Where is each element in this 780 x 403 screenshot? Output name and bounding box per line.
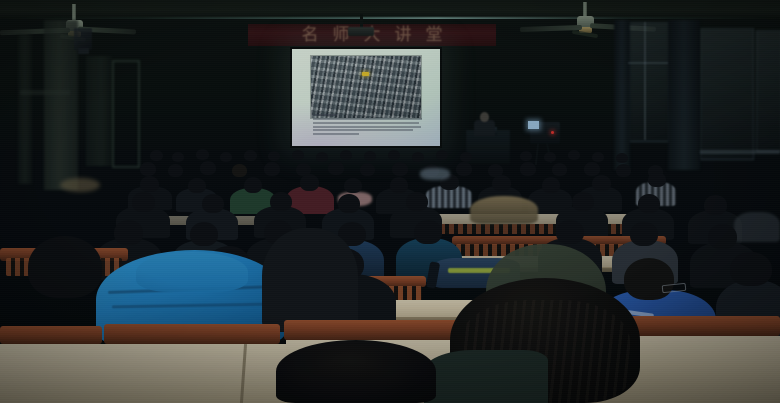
right-window-mullion xyxy=(644,22,646,140)
slide-caption-line xyxy=(313,122,419,124)
foreground-dark-figure xyxy=(262,228,358,332)
head xyxy=(202,194,224,213)
head xyxy=(196,149,209,160)
head xyxy=(544,152,556,162)
bench-tier-4-b xyxy=(104,324,280,344)
head xyxy=(390,177,408,193)
head xyxy=(552,163,567,176)
slide-caption-line xyxy=(313,118,423,120)
clothing-accent-tan xyxy=(60,178,100,192)
slide-caption-line xyxy=(313,133,359,135)
slide-traffic-jam-photo xyxy=(311,56,421,118)
clothing-accent-grey xyxy=(734,212,780,242)
puffer-hood xyxy=(136,252,248,292)
head xyxy=(114,220,143,245)
left-wall-pillar-far xyxy=(18,34,32,184)
head xyxy=(338,194,360,213)
head xyxy=(616,153,628,163)
head xyxy=(316,152,328,162)
projector-icon xyxy=(348,27,374,36)
right-window-sill xyxy=(700,150,780,154)
right-window-2 xyxy=(700,28,754,160)
head xyxy=(344,178,362,193)
slide-caption-title xyxy=(313,114,337,116)
head xyxy=(300,174,319,191)
right-window-3 xyxy=(756,30,780,152)
right-wall-pillar-1 xyxy=(668,20,700,170)
foreground-head-left xyxy=(28,236,102,298)
wall-speaker-icon xyxy=(74,28,92,50)
head xyxy=(244,150,257,161)
head xyxy=(140,162,156,176)
left-wall-pillar xyxy=(44,20,78,190)
banner-char-4: 讲 xyxy=(395,27,412,44)
head xyxy=(520,151,532,161)
head xyxy=(556,220,584,244)
head xyxy=(624,258,674,300)
right-window-transom xyxy=(628,62,668,64)
head xyxy=(360,163,375,176)
head xyxy=(708,224,737,249)
head xyxy=(232,164,247,177)
fur-trimmed-hood xyxy=(470,196,538,224)
head xyxy=(392,162,408,176)
left-wall-doorway xyxy=(86,56,112,166)
head xyxy=(150,150,163,161)
head xyxy=(584,162,600,176)
head xyxy=(264,162,280,176)
right-wall-pillar-2 xyxy=(614,20,630,170)
head xyxy=(704,195,727,215)
head xyxy=(730,252,772,286)
head xyxy=(268,151,280,161)
head xyxy=(630,222,658,246)
banner-char-5: 堂 xyxy=(426,27,443,44)
head xyxy=(436,150,448,160)
bench-tier-4-a xyxy=(0,326,102,344)
head xyxy=(244,177,262,193)
head xyxy=(414,220,442,244)
banner-char-1: 名 xyxy=(302,27,319,44)
slide-caption-line xyxy=(313,129,414,131)
head xyxy=(328,161,344,175)
foreground-dark-green-shoulder xyxy=(424,350,548,403)
yellow-car-highlight xyxy=(362,72,369,76)
camera-lcd-screen xyxy=(528,121,539,129)
head xyxy=(172,152,184,162)
lecture-hall-photo: 名 师 大 讲 堂 xyxy=(0,0,780,403)
head xyxy=(200,161,216,175)
bench-tier-4-e xyxy=(630,316,780,336)
head xyxy=(520,162,536,176)
head xyxy=(592,152,604,162)
head xyxy=(648,172,666,187)
head xyxy=(568,150,580,160)
head xyxy=(340,150,352,160)
head xyxy=(364,151,376,161)
desk-tier-4 xyxy=(0,344,300,403)
right-window-1 xyxy=(628,22,670,142)
projector-mount-rod xyxy=(360,14,363,28)
head xyxy=(220,152,232,162)
head xyxy=(140,176,159,192)
head xyxy=(616,164,631,177)
slide-caption-block xyxy=(313,114,423,136)
slide-caption-line xyxy=(313,126,421,128)
head xyxy=(542,177,560,193)
projection-screen xyxy=(290,47,442,148)
head xyxy=(132,192,155,212)
head xyxy=(456,162,472,176)
head xyxy=(188,178,206,193)
head xyxy=(412,152,424,162)
left-wall-frame xyxy=(112,60,140,168)
wall-speaker-bracket xyxy=(78,48,89,54)
presenter-head xyxy=(480,112,489,122)
head xyxy=(592,175,611,191)
head xyxy=(406,192,428,211)
presenter-body xyxy=(474,120,495,136)
head xyxy=(270,192,292,211)
head xyxy=(292,150,304,160)
head xyxy=(460,152,472,162)
banner-char-2: 师 xyxy=(333,27,350,44)
head xyxy=(388,150,400,160)
foreground-center-head xyxy=(276,340,436,403)
left-wall-ledge xyxy=(20,90,70,95)
clothing-accent-lightblue xyxy=(420,168,450,180)
bench-tier-4-c xyxy=(284,320,464,340)
head xyxy=(168,164,183,177)
head xyxy=(492,175,511,191)
camera-record-light-icon xyxy=(551,131,554,134)
head xyxy=(190,222,218,246)
head xyxy=(572,192,594,211)
head xyxy=(638,194,660,213)
